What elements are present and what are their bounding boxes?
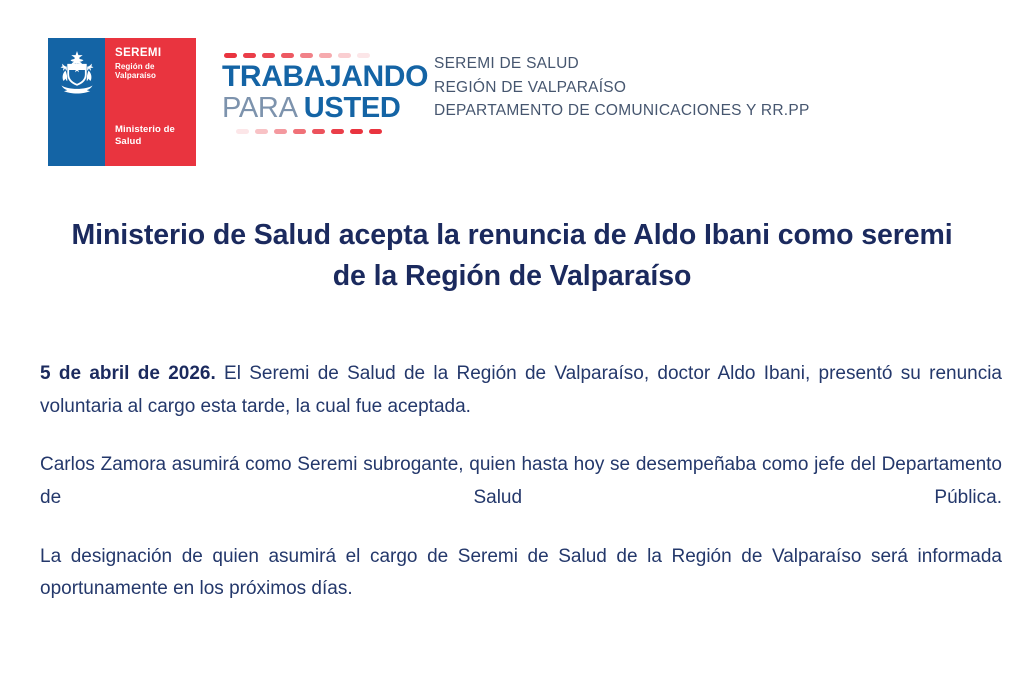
chilean-coat-of-arms-icon: [55, 48, 99, 96]
campaign-logo-trabajando-para-usted: TRABAJANDO PARA USTED: [222, 52, 422, 142]
dash-mark: [369, 129, 382, 134]
department-identification: SEREMI DE SALUD REGIÓN DE VALPARAÍSO DEP…: [434, 52, 810, 123]
logo-blue-panel: [48, 38, 105, 166]
press-release-page: SEREMI Región de Valparaíso Ministerio d…: [0, 0, 1024, 690]
dash-mark: [357, 53, 370, 58]
dash-mark: [331, 129, 344, 134]
dash-mark: [255, 129, 268, 134]
dash-mark: [300, 53, 313, 58]
department-line-3: DEPARTAMENTO DE COMUNICACIONES Y RR.PP: [434, 99, 810, 123]
logo-ministry-line-2: Salud: [115, 136, 175, 148]
dash-mark: [293, 129, 306, 134]
gob-seremi-logo: SEREMI Región de Valparaíso Ministerio d…: [48, 38, 196, 166]
campaign-word-usted: USTED: [304, 92, 401, 124]
dash-mark: [262, 53, 275, 58]
dash-mark: [224, 53, 237, 58]
logo-ministry-text: Ministerio de Salud: [115, 124, 175, 148]
logo-seremi-subtitle: Región de Valparaíso: [115, 62, 196, 80]
paragraph-1: 5 de abril de 2026. El Seremi de Salud d…: [40, 358, 1002, 423]
article-body: 5 de abril de 2026. El Seremi de Salud d…: [40, 358, 1002, 606]
document-header: SEREMI Región de Valparaíso Ministerio d…: [0, 0, 1024, 180]
dash-mark: [350, 129, 363, 134]
dash-mark: [281, 53, 294, 58]
paragraph-3: La designación de quien asumirá el cargo…: [40, 541, 1002, 606]
dash-mark: [236, 129, 249, 134]
department-line-1: SEREMI DE SALUD: [434, 52, 810, 76]
dash-mark: [243, 53, 256, 58]
campaign-line-trabajando: TRABAJANDO: [222, 62, 422, 93]
campaign-word-para: PARA: [222, 92, 304, 124]
campaign-dashes-top: [224, 52, 422, 58]
dash-mark: [319, 53, 332, 58]
logo-ministry-line-1: Ministerio de: [115, 124, 175, 136]
paragraph-1-date-lead: 5 de abril de 2026.: [40, 363, 216, 384]
campaign-line-para-usted: PARA USTED: [222, 93, 422, 123]
logo-seremi-text: SEREMI Región de Valparaíso: [115, 47, 196, 81]
dash-mark: [338, 53, 351, 58]
logo-seremi-title: SEREMI: [115, 47, 196, 60]
campaign-dashes-bottom: [236, 128, 422, 134]
page-title: Ministerio de Salud acepta la renuncia d…: [62, 215, 962, 296]
paragraph-2: Carlos Zamora asumirá como Seremi subrog…: [40, 449, 1002, 514]
dash-mark: [274, 129, 287, 134]
department-line-2: REGIÓN DE VALPARAÍSO: [434, 76, 810, 100]
dash-mark: [312, 129, 325, 134]
logo-red-panel: SEREMI Región de Valparaíso Ministerio d…: [105, 38, 196, 166]
